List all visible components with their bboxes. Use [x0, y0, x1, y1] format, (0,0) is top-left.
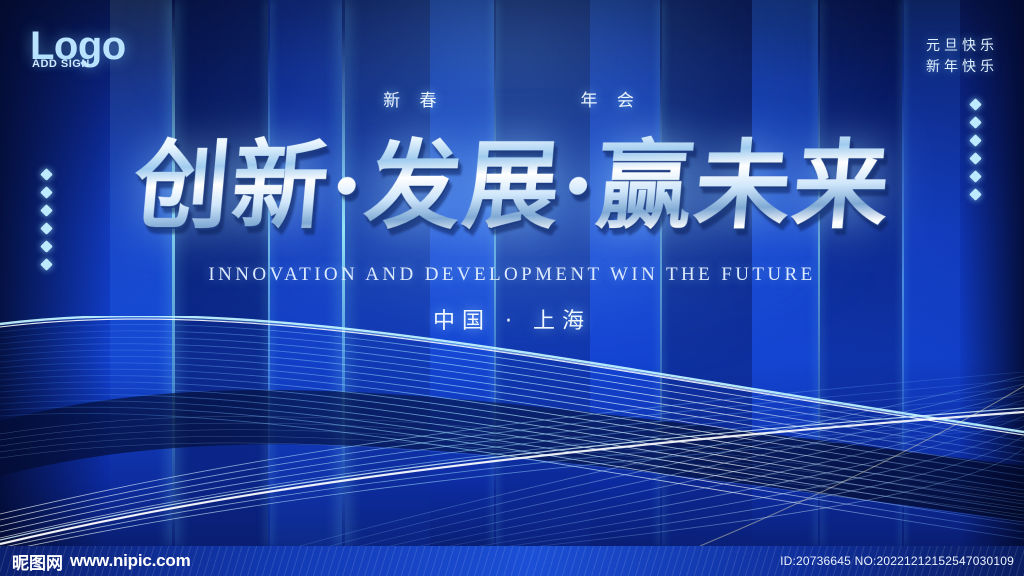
english-subtitle: INNOVATION AND DEVELOPMENT WIN THE FUTUR… — [0, 264, 1024, 286]
poster-canvas: Logo ADD SIGN 元旦快乐 新年快乐 新 春 年 会 创新·发展·赢未… — [0, 0, 1024, 576]
footer-branding[interactable]: 昵图网 www.nipic.com — [12, 546, 191, 576]
footer-bar: 昵图网 www.nipic.com ID:20736645 NO:2022121… — [0, 546, 1024, 576]
footer-image-id: ID:20736645 NO:20221212152547030109 — [780, 546, 1014, 576]
greeting-line-2: 新年快乐 — [926, 57, 998, 78]
eyebrow-left: 新 春 — [383, 86, 443, 111]
eyebrow-right: 年 会 — [580, 86, 640, 111]
greeting-line-1: 元旦快乐 — [926, 36, 998, 57]
nipic-url: www.nipic.com — [70, 551, 191, 571]
location-text: 中国 · 上海 — [0, 303, 1024, 335]
greetings-block: 元旦快乐 新年快乐 — [926, 36, 998, 78]
main-title: 创新·发展·赢未来 — [128, 124, 896, 248]
logo[interactable]: Logo ADD SIGN — [30, 26, 126, 66]
eyebrow-row: 新 春 年 会 — [0, 86, 1024, 111]
nipic-logo-cn: 昵图网 — [12, 549, 63, 574]
wave-ribbons — [0, 316, 1024, 546]
logo-sub-text: ADD SIGN — [32, 59, 90, 70]
main-title-wrap: 创新·发展·赢未来 — [0, 124, 1024, 254]
